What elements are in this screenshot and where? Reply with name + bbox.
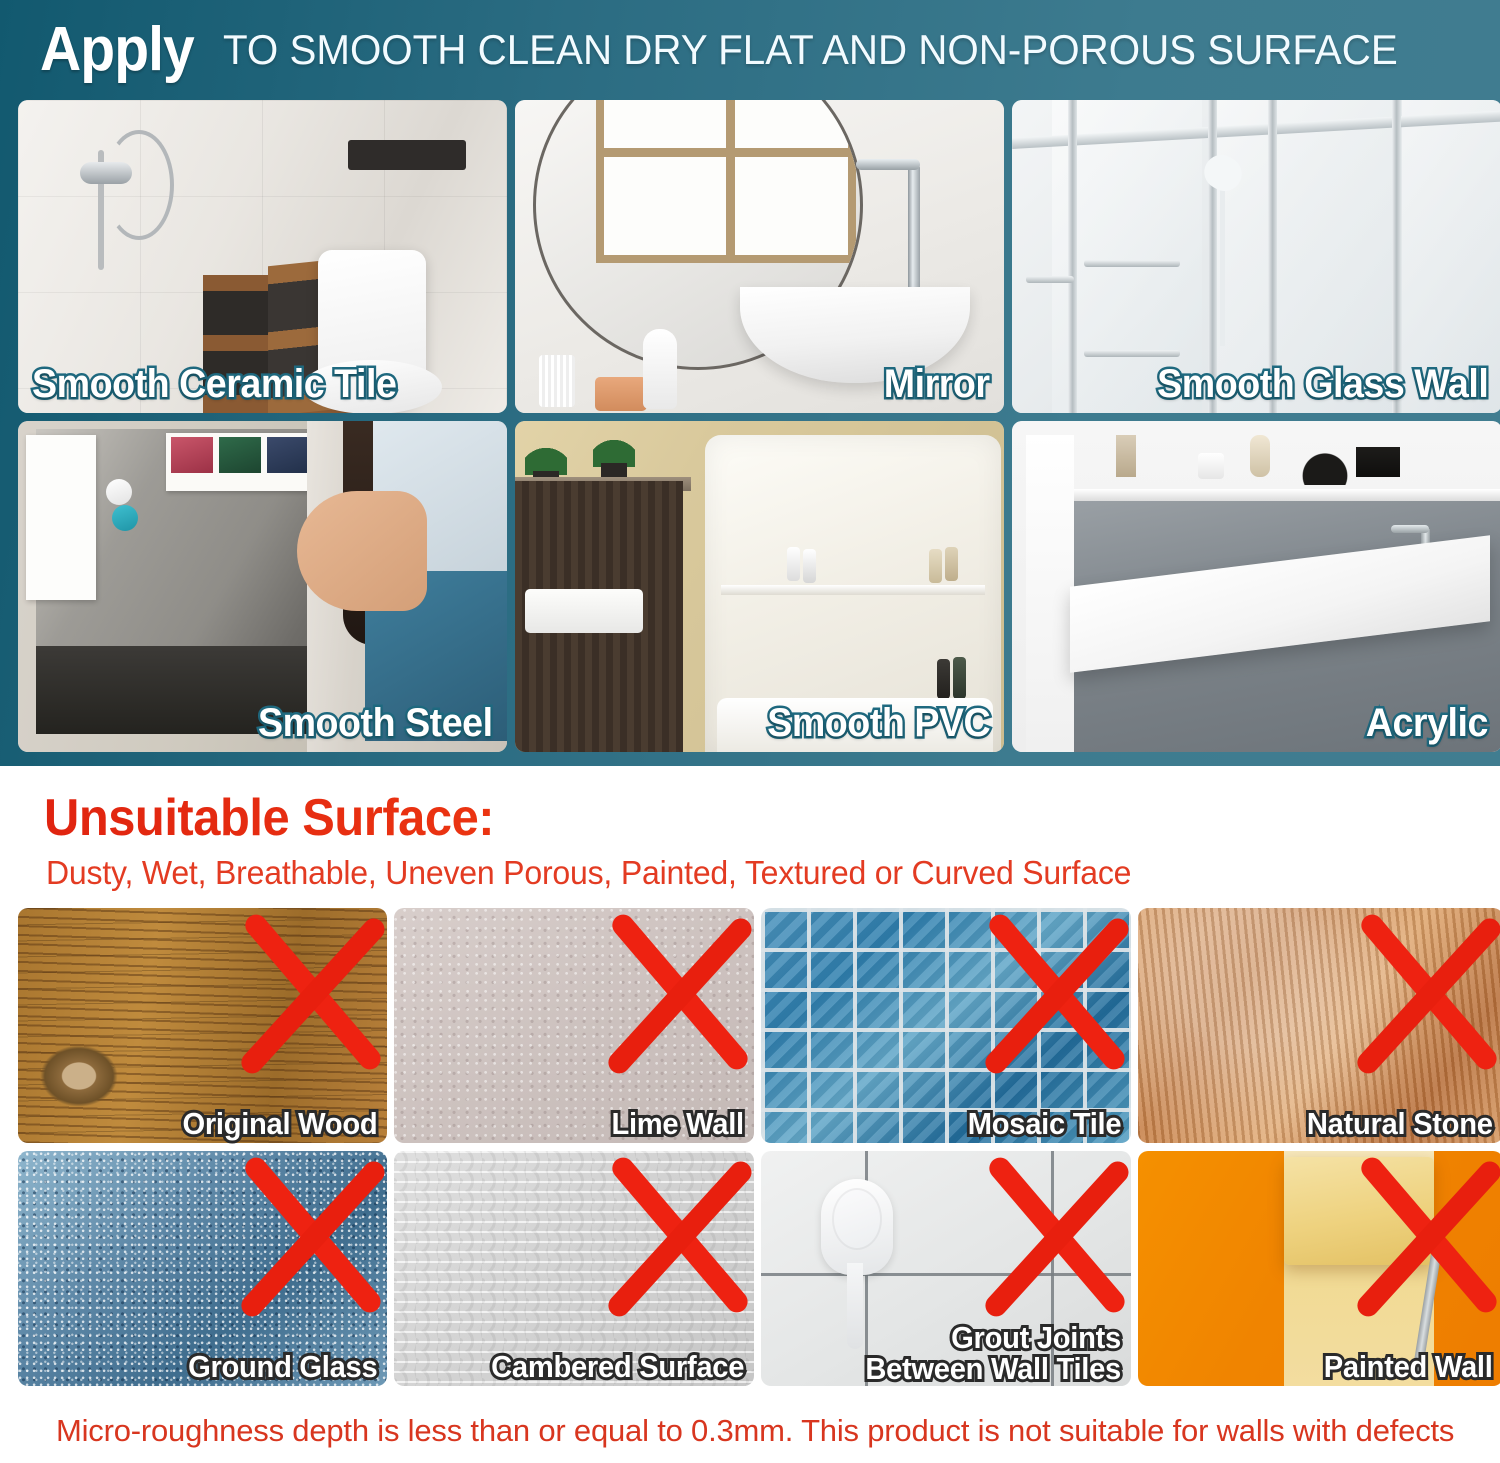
glass-shelf-2 — [1084, 350, 1180, 357]
apply-tile-label: Mirror — [884, 362, 990, 407]
lotion-bottle-icon — [643, 329, 677, 409]
perfume-icon — [1250, 435, 1270, 477]
apply-tile-label: Smooth Glass Wall — [1157, 362, 1488, 407]
gift-box-icon — [1356, 447, 1400, 477]
shower-hose-icon — [104, 130, 174, 240]
unsuitable-tile-label: Grout Joints Between Wall Tiles — [865, 1322, 1121, 1384]
photo-1 — [171, 437, 213, 473]
apply-tile-steel[interactable]: Smooth Steel — [18, 421, 507, 752]
photo-2 — [219, 437, 261, 473]
plant-icon-1 — [525, 435, 567, 475]
apply-tile-grid: Smooth Ceramic Tile Mirror — [14, 100, 1486, 752]
paint-roller-icon — [1284, 1157, 1434, 1265]
bottle-3 — [929, 549, 942, 583]
apply-section: Apply TO SMOOTH CLEAN DRY FLAT AND NON-P… — [0, 0, 1500, 766]
unsuitable-tile-label: Lime Wall — [612, 1108, 744, 1139]
unsuitable-tile-grid: Original Wood Lime Wall Mosaic Tile — [14, 908, 1486, 1386]
unsuitable-tile-label: Natural Stone — [1307, 1108, 1493, 1139]
unsuitable-tile-wood[interactable]: Original Wood — [18, 908, 387, 1143]
footer-note: Micro-roughness depth is less than or eq… — [56, 1408, 1456, 1463]
photo-3 — [267, 437, 309, 473]
apply-tile-label: Smooth PVC — [767, 701, 990, 746]
apply-tile-label: Smooth Steel — [258, 701, 493, 746]
bottle-2 — [803, 549, 816, 583]
unsuitable-tile-ground-glass[interactable]: Ground Glass — [18, 1151, 387, 1386]
bottle-6 — [953, 657, 966, 699]
glass-shelf-3 — [1026, 276, 1074, 283]
cosmetic-jar-icon — [595, 377, 647, 411]
apply-tile-glass-wall[interactable]: Smooth Glass Wall — [1012, 100, 1500, 413]
suction-hook-icon — [821, 1179, 893, 1275]
unsuitable-tile-grout-joints[interactable]: Grout Joints Between Wall Tiles — [761, 1151, 1131, 1386]
sink-icon — [525, 589, 643, 633]
magnet-white-icon — [106, 479, 132, 505]
candle-icon — [1198, 453, 1224, 479]
apply-tile-mirror[interactable]: Mirror — [515, 100, 1004, 413]
hand-shower-icon — [1220, 156, 1225, 346]
alcove-ledge — [721, 585, 985, 595]
apply-tile-pvc[interactable]: Smooth PVC — [515, 421, 1004, 752]
bottle-4 — [945, 547, 958, 581]
unsuitable-tile-lime-wall[interactable]: Lime Wall — [394, 908, 754, 1143]
shower-mixer-icon — [80, 162, 132, 184]
bottle-5 — [937, 659, 950, 699]
unsuitable-tile-painted-wall[interactable]: Painted Wall — [1138, 1151, 1500, 1386]
unsuitable-tile-label: Ground Glass — [188, 1351, 377, 1382]
apply-tile-label: Acrylic — [1366, 701, 1488, 746]
unsuitable-title: Unsuitable Surface: — [44, 788, 1399, 848]
orchid-icon — [1298, 439, 1352, 485]
unsuitable-tile-label-line2: Between Wall Tiles — [865, 1353, 1121, 1384]
bottle-1 — [787, 547, 800, 581]
plant-icon-2 — [593, 427, 635, 467]
apply-tile-acrylic[interactable]: Acrylic — [1012, 421, 1500, 752]
unsuitable-tile-natural-stone[interactable]: Natural Stone — [1138, 908, 1500, 1143]
unsuitable-tile-label: Mosaic Tile — [968, 1108, 1121, 1139]
white-side-panel — [1026, 435, 1074, 752]
unsuitable-tile-label-line1: Grout Joints — [865, 1322, 1121, 1353]
apply-heading-strong: Apply — [40, 19, 194, 81]
glass-shelf-1 — [1084, 260, 1180, 267]
display-ledge — [1072, 489, 1500, 501]
apply-tile-label: Smooth Ceramic Tile — [32, 362, 396, 407]
paper-note-icon — [26, 435, 96, 600]
reed-diffuser-icon — [1116, 435, 1136, 477]
apply-heading-rest: TO SMOOTH CLEAN DRY FLAT AND NON-POROUS … — [223, 26, 1398, 74]
faucet-icon — [908, 165, 920, 295]
magnet-teal-icon — [112, 505, 138, 531]
toothbrush-cup-icon — [539, 355, 575, 407]
arm-art — [297, 491, 427, 611]
unsuitable-section: Unsuitable Surface: Dusty, Wet, Breathab… — [0, 766, 1500, 1463]
glass-mullion-1 — [1068, 100, 1077, 413]
unsuitable-tile-label: Original Wood — [182, 1108, 377, 1139]
product-infographic: Apply TO SMOOTH CLEAN DRY FLAT AND NON-P… — [0, 0, 1500, 1463]
unsuitable-tile-label: Cambered Surface — [491, 1351, 744, 1382]
unsuitable-subtitle: Dusty, Wet, Breathable, Uneven Porous, P… — [46, 854, 1443, 892]
wall-shelf-icon — [348, 140, 466, 170]
recipe-photos-icon — [166, 433, 316, 491]
unsuitable-tile-cambered[interactable]: Cambered Surface — [394, 1151, 754, 1386]
unsuitable-tile-mosaic[interactable]: Mosaic Tile — [761, 908, 1131, 1143]
apply-tile-ceramic[interactable]: Smooth Ceramic Tile — [18, 100, 507, 413]
apply-header: Apply TO SMOOTH CLEAN DRY FLAT AND NON-P… — [14, 0, 1486, 100]
window-reflection-art — [596, 100, 856, 263]
unsuitable-tile-label: Painted Wall — [1324, 1351, 1493, 1382]
